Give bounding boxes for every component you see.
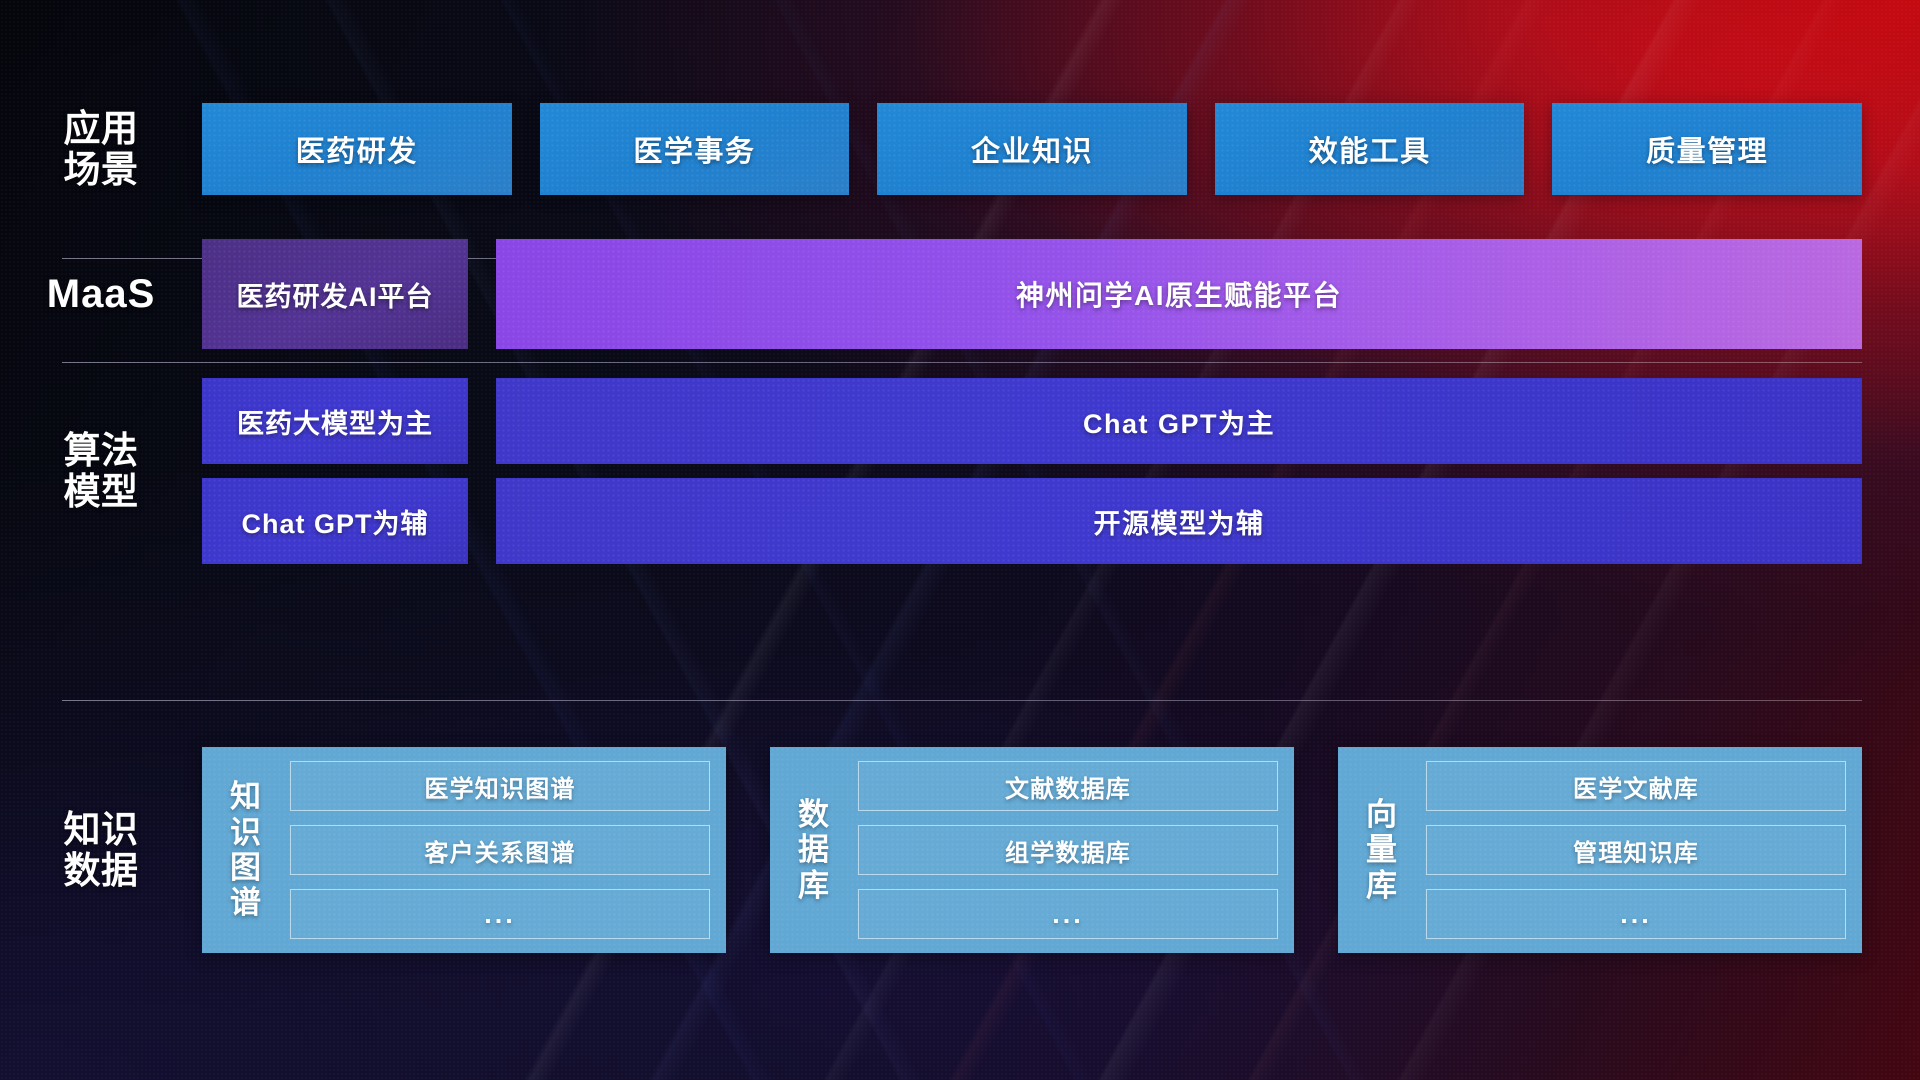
knowledge-item-label: 管理知识库 [1573,833,1699,868]
maas-left-label: 医药研发AI平台 [237,275,434,314]
knowledge-group-vector-store[interactable]: 向量库 医学文献库 管理知识库 ... [1338,747,1862,953]
knowledge-item-omics-database[interactable]: 组学数据库 [858,825,1278,875]
algo-left-label: Chat GPT为辅 [241,502,428,541]
app-box-label: 质量管理 [1646,128,1768,170]
row-maas: MaaS 医药研发AI平台 神州问学AI原生赋能平台 [0,235,1920,353]
knowledge-item-list: 文献数据库 组学数据库 ... [858,761,1278,939]
algorithm-box-grid: 医药大模型为主 Chat GPT为主 Chat GPT为辅 开源模型为辅 [202,378,1920,564]
knowledge-group-database[interactable]: 数据库 文献数据库 组学数据库 ... [770,747,1294,953]
maas-box-list: 医药研发AI平台 神州问学AI原生赋能平台 [202,239,1920,349]
maas-box-shenzhou-wenxue-platform[interactable]: 神州问学AI原生赋能平台 [496,239,1862,349]
row-label-algorithm-models: 算法 模型 [0,430,202,513]
knowledge-item-more[interactable]: ... [858,889,1278,939]
row-label-line-1: 算法 [64,430,139,471]
row-label-line-1: 应用 [64,108,139,149]
divider-algorithm-knowledge [62,700,1862,701]
app-box-efficiency-tools[interactable]: 效能工具 [1215,103,1525,195]
architecture-diagram: 应用 场景 医药研发 医学事务 企业知识 效能工具 质 [0,0,1920,1080]
algorithm-row-secondary: Chat GPT为辅 开源模型为辅 [202,478,1862,564]
algo-box-medicine-large-model-primary[interactable]: 医药大模型为主 [202,378,468,464]
knowledge-item-customer-relation-graph[interactable]: 客户关系图谱 [290,825,710,875]
algo-box-chatgpt-primary[interactable]: Chat GPT为主 [496,378,1862,464]
knowledge-item-list: 医学知识图谱 客户关系图谱 ... [290,761,710,939]
row-label-line-1: 知识 [64,809,139,850]
knowledge-group-list: 知识图谱 医学知识图谱 客户关系图谱 ... [202,747,1920,953]
maas-right-label: 神州问学AI原生赋能平台 [1016,274,1342,314]
knowledge-group-title: 向量库 [1352,797,1412,903]
knowledge-item-more[interactable]: ... [290,889,710,939]
app-box-label: 医药研发 [296,128,418,170]
row-application-scenarios: 应用 场景 医药研发 医学事务 企业知识 效能工具 质 [0,100,1920,198]
knowledge-group-knowledge-graph[interactable]: 知识图谱 医学知识图谱 客户关系图谱 ... [202,747,726,953]
knowledge-item-more[interactable]: ... [1426,889,1846,939]
knowledge-item-management-knowledge-store[interactable]: 管理知识库 [1426,825,1846,875]
app-box-label: 企业知识 [971,128,1093,170]
algo-right-label: 开源模型为辅 [1094,502,1265,541]
algo-left-label: 医药大模型为主 [237,402,433,441]
app-box-enterprise-knowledge[interactable]: 企业知识 [877,103,1187,195]
algo-right-label: Chat GPT为主 [1083,402,1275,441]
row-label-line-2: 模型 [64,471,139,512]
knowledge-item-list: 医学文献库 管理知识库 ... [1426,761,1846,939]
knowledge-item-literature-database[interactable]: 文献数据库 [858,761,1278,811]
row-label-knowledge-data: 知识 数据 [0,809,202,892]
algo-box-chatgpt-secondary[interactable]: Chat GPT为辅 [202,478,468,564]
knowledge-item-label: 客户关系图谱 [424,833,575,868]
knowledge-item-label: 文献数据库 [1005,769,1131,804]
knowledge-item-medical-knowledge-graph[interactable]: 医学知识图谱 [290,761,710,811]
app-box-quality-management[interactable]: 质量管理 [1552,103,1862,195]
row-label-application-scenarios: 应用 场景 [0,108,202,191]
knowledge-group-title: 知识图谱 [216,779,276,920]
row-label-line-2: 场景 [64,149,139,190]
application-box-list: 医药研发 医学事务 企业知识 效能工具 质量管理 [202,103,1920,195]
algorithm-row-primary: 医药大模型为主 Chat GPT为主 [202,378,1862,464]
algo-box-opensource-model-secondary[interactable]: 开源模型为辅 [496,478,1862,564]
row-knowledge-data: 知识 数据 知识图谱 医学知识图谱 客户关系图谱 [0,730,1920,970]
knowledge-item-label: 医学文献库 [1573,769,1699,804]
knowledge-item-label: ... [1620,899,1652,930]
row-label-maas: MaaS [0,272,202,317]
maas-box-medicine-rd-ai-platform[interactable]: 医药研发AI平台 [202,239,468,349]
knowledge-group-title: 数据库 [784,797,844,903]
row-label-line-2: 数据 [64,850,139,891]
knowledge-item-label: ... [1052,899,1084,930]
row-algorithm-models: 算法 模型 医药大模型为主 Chat GPT为主 [0,378,1920,564]
app-box-label: 效能工具 [1309,128,1431,170]
divider-maas-algorithm [62,362,1862,363]
app-box-label: 医学事务 [633,128,755,170]
app-box-medicine-rd[interactable]: 医药研发 [202,103,512,195]
knowledge-item-medical-literature-store[interactable]: 医学文献库 [1426,761,1846,811]
knowledge-item-label: 组学数据库 [1005,833,1131,868]
knowledge-item-label: ... [484,899,516,930]
app-box-medical-affairs[interactable]: 医学事务 [540,103,850,195]
knowledge-item-label: 医学知识图谱 [424,769,575,804]
